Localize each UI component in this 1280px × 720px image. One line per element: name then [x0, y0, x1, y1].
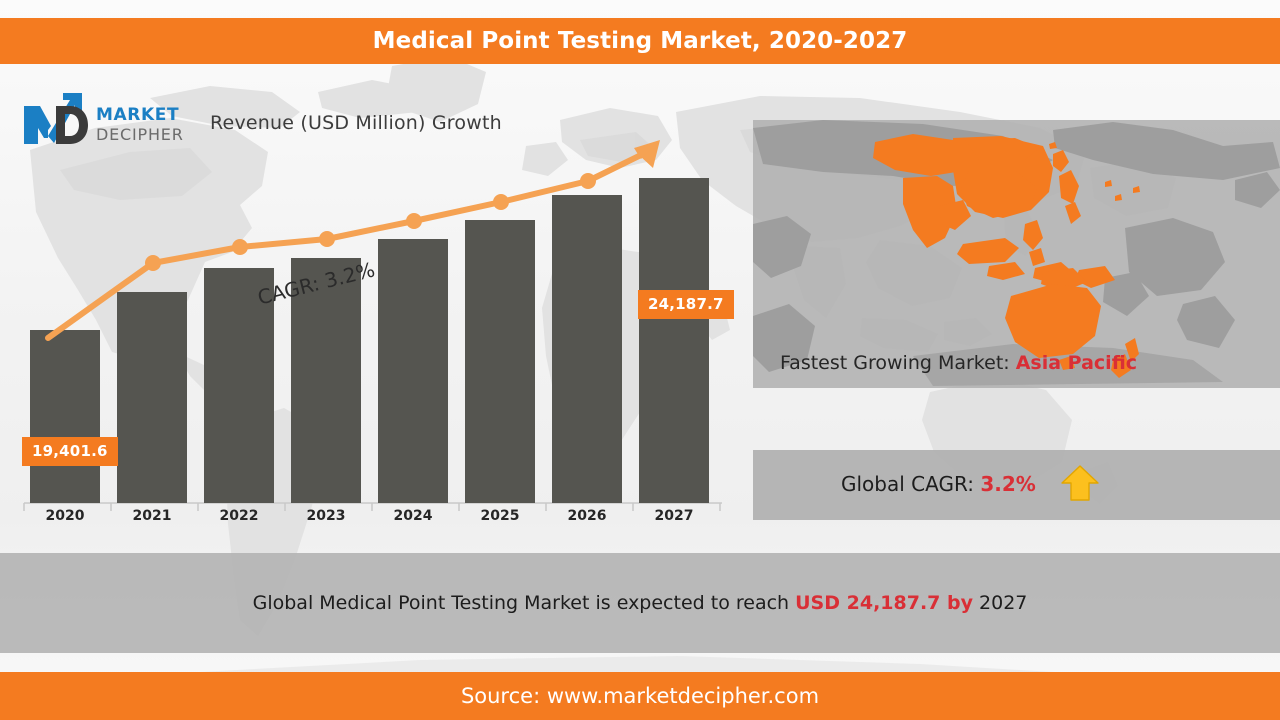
x-label-2020: 2020 [28, 508, 102, 524]
logo-market-text: MARKET [96, 105, 179, 125]
summary-highlight: USD 24,187.7 by [795, 592, 973, 614]
global-cagr-panel: Global CAGR: 3.2% [753, 450, 1280, 520]
source-text: Source: www.marketdecipher.com [461, 684, 819, 708]
page-title: Medical Point Testing Market, 2020-2027 [373, 28, 908, 54]
brand-logo[interactable]: MARKET DECIPHER [18, 88, 183, 150]
x-label-2021: 2021 [115, 508, 189, 524]
fastest-growing-market-region: Asia Pacific [1016, 352, 1137, 374]
global-cagr-label: Global CAGR: [841, 472, 974, 496]
global-cagr-value: 3.2% [980, 472, 1035, 496]
header-bar: Medical Point Testing Market, 2020-2027 [0, 18, 1280, 64]
chart-region: Revenue (USD Million) Growth [0, 100, 745, 540]
summary-prefix: Global Medical Point Testing Market is e… [253, 592, 789, 614]
up-arrow-icon [1060, 464, 1100, 507]
asia-pacific-highlight [873, 134, 1140, 378]
global-cagr-text: Global CAGR: 3.2% [841, 464, 1100, 507]
x-label-2022: 2022 [202, 508, 276, 524]
fastest-growing-market-panel: Fastest Growing Market: Asia Pacific [753, 120, 1280, 388]
x-label-2027: 2027 [637, 508, 711, 524]
asia-pacific-map [753, 120, 1280, 388]
summary-banner: Global Medical Point Testing Market is e… [0, 553, 1280, 653]
x-label-2023: 2023 [289, 508, 363, 524]
x-label-2024: 2024 [376, 508, 450, 524]
logo-decipher-text: DECIPHER [96, 125, 183, 144]
footer-bar: Source: www.marketdecipher.com [0, 672, 1280, 720]
x-label-2025: 2025 [463, 508, 537, 524]
fastest-growing-market-caption: Fastest Growing Market: Asia Pacific [780, 352, 1137, 374]
summary-suffix: 2027 [979, 592, 1027, 614]
x-axis-labels: 2020 2021 2022 2023 2024 2025 2026 2027 [0, 100, 745, 540]
fastest-growing-market-prefix: Fastest Growing Market: [780, 352, 1010, 374]
summary-banner-text: Global Medical Point Testing Market is e… [253, 592, 1028, 614]
infographic-root: Medical Point Testing Market, 2020-2027 … [0, 0, 1280, 720]
x-label-2026: 2026 [550, 508, 624, 524]
